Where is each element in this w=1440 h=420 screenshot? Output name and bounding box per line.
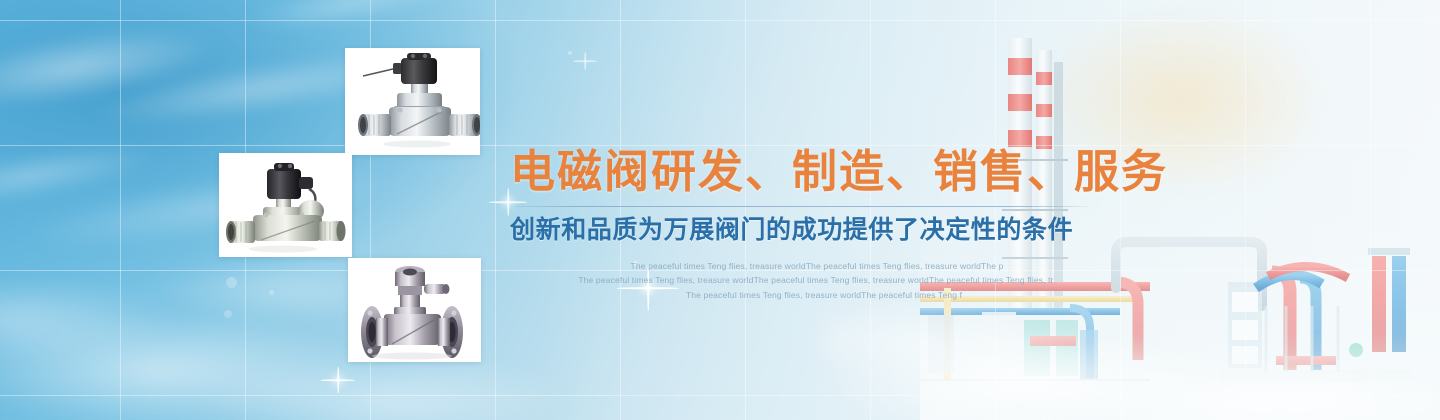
page-subtitle: 创新和品质为万展阀门的成功提供了决定性的条件 xyxy=(510,215,1090,245)
hero-text-block: 电磁阀研发、制造、销售、服务 创新和品质为万展阀门的成功提供了决定性的条件 Th… xyxy=(510,148,1090,303)
title-divider xyxy=(510,206,1088,207)
product-thumbnail-1[interactable] xyxy=(345,48,480,155)
hero-blurb-line: The peaceful times Teng flies, treasure … xyxy=(542,273,1090,288)
pipe-skid-right xyxy=(1220,248,1428,382)
hero-blurb-line: The peaceful times Teng flies, treasure … xyxy=(582,259,1052,274)
product-thumbnail-3[interactable] xyxy=(348,258,481,362)
threaded-solenoid-valve-compact-icon xyxy=(219,153,352,257)
threaded-solenoid-valve-horizontal-icon xyxy=(345,48,480,155)
hero-blurb-line: The peaceful times Teng flies, treasure … xyxy=(614,288,1034,303)
page-title: 电磁阀研发、制造、销售、服务 xyxy=(510,148,1090,197)
flanged-solenoid-valve-icon xyxy=(348,258,481,362)
hero-banner: 电磁阀研发、制造、销售、服务 创新和品质为万展阀门的成功提供了决定性的条件 Th… xyxy=(0,0,1440,420)
product-thumbnail-2[interactable] xyxy=(219,153,352,257)
hero-blurb: The peaceful times Teng flies, treasure … xyxy=(582,259,1052,304)
